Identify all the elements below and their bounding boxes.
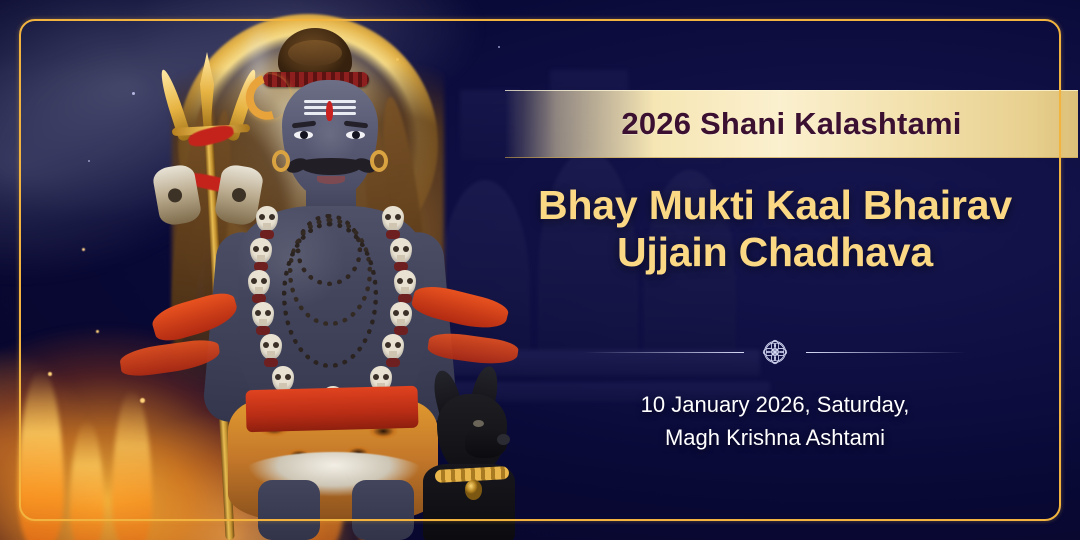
eyebrow-banner: 2026 Shani Kalashtami	[505, 90, 1078, 158]
skull-bead	[272, 366, 294, 391]
date-line-2: Magh Krishna Ashtami	[470, 421, 1080, 454]
red-sash	[245, 386, 418, 432]
divider-line-right	[806, 352, 966, 353]
skull-bead	[394, 270, 416, 295]
skull-bead	[252, 302, 274, 327]
kaal-bhairav-figure	[60, 0, 480, 540]
page-title: Bhay Mukti Kaal Bhairav Ujjain Chadhava	[470, 182, 1080, 275]
lips	[317, 176, 345, 184]
leg-left	[258, 480, 320, 540]
divider-line-left	[584, 352, 744, 353]
skull-bead	[382, 206, 404, 231]
leg-right	[352, 480, 414, 540]
skull-bead	[248, 270, 270, 295]
title-line-1: Bhay Mukti Kaal Bhairav	[470, 182, 1080, 229]
festival-banner: 2026 Shani Kalashtami Bhay Mukti Kaal Bh…	[0, 0, 1080, 540]
banner-content: 2026 Shani Kalashtami Bhay Mukti Kaal Bh…	[470, 0, 1080, 540]
title-line-2: Ujjain Chadhava	[470, 229, 1080, 276]
eyebrow-text: 2026 Shani Kalashtami	[621, 106, 961, 142]
eye-right	[346, 131, 365, 139]
skull-bead	[382, 334, 404, 359]
rudraksha-mala	[282, 222, 378, 368]
red-tilak	[326, 101, 333, 121]
skull-bead	[390, 302, 412, 327]
eye-left	[294, 131, 313, 139]
date-line-1: 10 January 2026, Saturday,	[470, 388, 1080, 421]
ornamental-divider	[470, 330, 1080, 374]
skull-bead	[260, 334, 282, 359]
earring-right	[370, 150, 388, 172]
floral-rosette-icon	[758, 335, 792, 369]
skull-bead	[250, 238, 272, 263]
skull-bead	[390, 238, 412, 263]
event-date: 10 January 2026, Saturday, Magh Krishna …	[470, 388, 1080, 454]
skull-bead	[256, 206, 278, 231]
ember	[48, 372, 52, 376]
earring-left	[272, 150, 290, 172]
